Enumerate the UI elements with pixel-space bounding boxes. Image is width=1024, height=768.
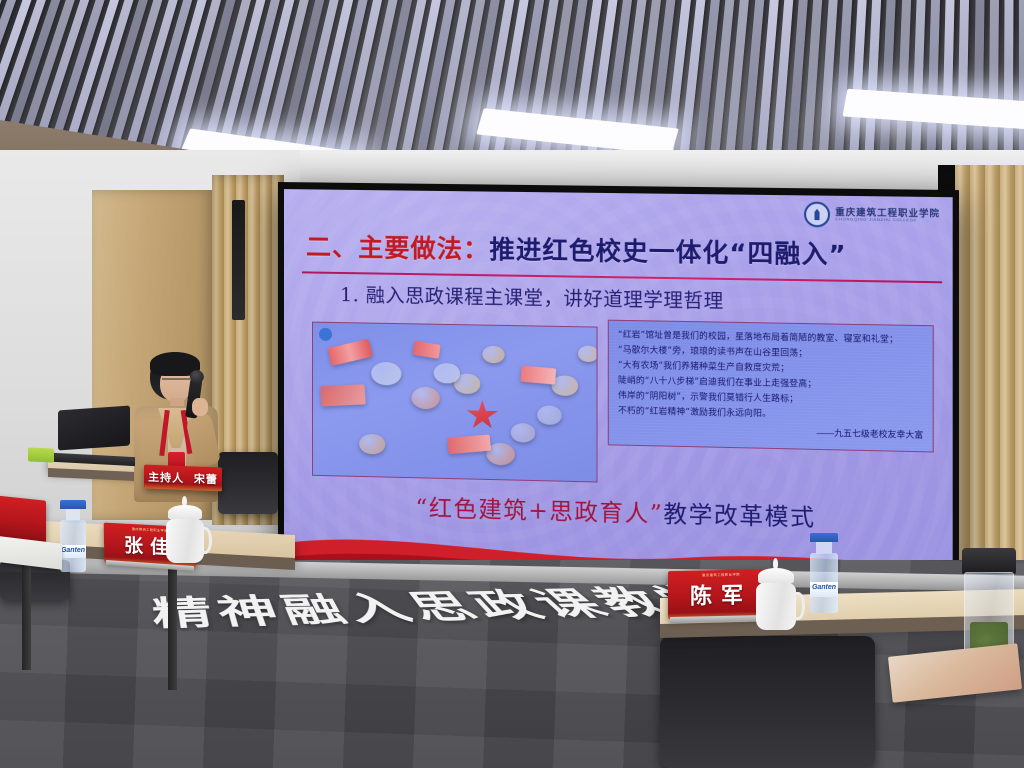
- medal-icon: [412, 387, 440, 410]
- table-leg-center: [168, 560, 177, 690]
- red-star-icon: [466, 400, 498, 431]
- slide-title-rest: 推进红色校史一体化“四融入”: [489, 235, 846, 270]
- bottle-brand-text: Ganten: [60, 545, 86, 556]
- bottle-body: Ganten: [60, 520, 86, 572]
- college-logo-text: 重庆建筑工程职业学院 CHONGQING JIANZHU COLLEGE: [835, 208, 940, 223]
- ribbon-icon: [413, 341, 441, 359]
- thermos-cap: [962, 548, 1016, 574]
- presenter-hand: [192, 398, 208, 416]
- medal-icon: [511, 423, 535, 442]
- medal-icon: [371, 362, 401, 386]
- ribbon-icon: [520, 365, 556, 384]
- ribbon-icon: [320, 384, 365, 406]
- nameplate-partial-left: [0, 495, 46, 542]
- college-logo: 重庆建筑工程职业学院 CHONGQING JIANZHU COLLEGE: [804, 202, 940, 229]
- mug-cup: [166, 519, 204, 563]
- wall-speaker-strip: [232, 200, 245, 320]
- mug-right-table: [756, 568, 796, 630]
- water-bottle-right: Ganten: [810, 533, 838, 613]
- mug-cup-right: [756, 583, 796, 630]
- laptop[interactable]: [58, 408, 130, 464]
- medal-icon: [537, 405, 561, 424]
- ribbon-icon: [447, 434, 491, 454]
- medal-icon: [482, 346, 504, 364]
- led-screen[interactable]: 重庆建筑工程职业学院 CHONGQING JIANZHU COLLEGE 二、主…: [278, 182, 959, 613]
- presentation-slide: 重庆建筑工程职业学院 CHONGQING JIANZHU COLLEGE 二、主…: [284, 189, 953, 606]
- medal-icon: [552, 375, 579, 396]
- slide-title-row: 二、主要做法：推进红色校史一体化“四融入”: [306, 227, 934, 279]
- slide-title-emphasis: 二、主要做法: [306, 232, 463, 263]
- table-leg-left: [22, 552, 31, 670]
- medal-icon: [578, 345, 597, 361]
- laptop-screen: [58, 405, 130, 450]
- water-bottle-left: Ganten: [60, 500, 86, 572]
- bottle-body-right: Ganten: [810, 553, 838, 613]
- mug-front-table: [166, 505, 204, 563]
- ribbon-icon: [327, 339, 372, 366]
- wall-right-fluted-wood: [955, 165, 1024, 595]
- medal-icon: [359, 434, 385, 455]
- bottle-label: Ganten: [60, 545, 86, 559]
- chair-behind-podium: [218, 452, 278, 514]
- mug-handle-right: [791, 592, 804, 620]
- nameplate-host: 主持人 宋蕾: [144, 465, 222, 492]
- slide-title: 二、主要做法：推进红色校史一体化“四融入”: [306, 232, 847, 269]
- watermark-icon: [319, 328, 332, 341]
- bottle-cap: [60, 500, 86, 509]
- bottle-cap-right: [810, 533, 838, 542]
- slide-subtitle: 1. 融入思政课程主课堂，讲好道理学理哲理: [340, 280, 724, 314]
- microphone-head: [189, 369, 205, 384]
- slide-title-colon: ：: [463, 235, 489, 265]
- quote-box: “红岩”馆址曾是我们的校园，星落地布局着简陋的教室、寝室和礼堂；“马歇尔大楼”旁…: [608, 320, 934, 453]
- mug-lid-right: [758, 568, 795, 584]
- glasses-icon: [162, 378, 190, 387]
- conference-room-photo: 重庆建筑工程职业学院 CHONGQING JIANZHU COLLEGE 二、主…: [0, 0, 1024, 768]
- bottle-brand-text-right: Ganten: [810, 582, 838, 593]
- quote-attribution: ——九五七级老校友幸大富: [618, 422, 923, 441]
- tissue-pack: [28, 447, 54, 462]
- mug-lid: [168, 505, 203, 520]
- chair-right-foreground: [660, 636, 875, 768]
- bottle-label-right: Ganten: [810, 582, 838, 598]
- college-crest-icon: [804, 202, 830, 228]
- nameplate-chenjun-text: 陈军: [690, 577, 752, 610]
- slide-photo: [312, 322, 598, 483]
